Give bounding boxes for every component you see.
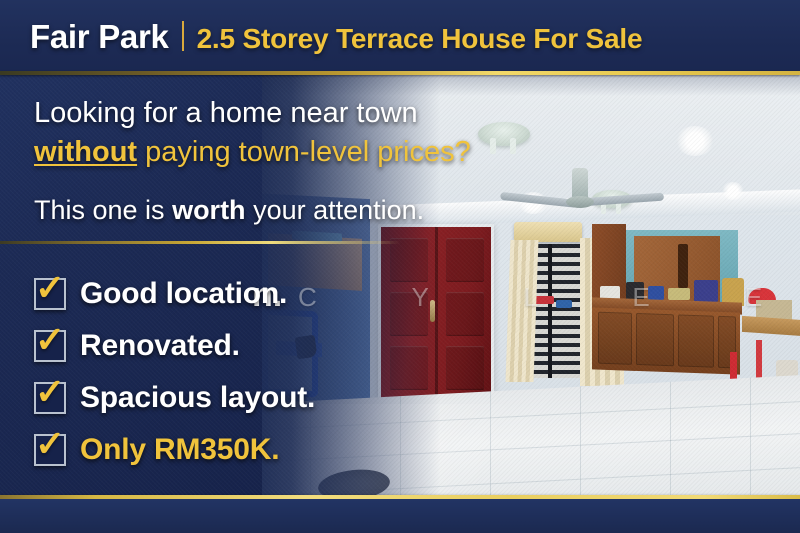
copy-block: Looking for a home near town without pay… <box>34 94 504 228</box>
wooden-tv-cabinet <box>592 307 740 374</box>
checkbox-checked-icon: ✓ <box>34 434 66 466</box>
checklist-item-label: Spacious layout. <box>80 381 315 415</box>
brand-title: Fair Park <box>30 18 169 56</box>
checklist-item-label-price: Only RM350K. <box>80 433 279 467</box>
gold-divider-middle <box>0 241 400 244</box>
checkbox-checked-icon: ✓ <box>34 278 66 310</box>
gold-divider-top <box>0 71 800 75</box>
checklist-item-label: Good location. <box>80 277 287 311</box>
header-bar: Fair Park 2.5 Storey Terrace House For S… <box>0 0 800 74</box>
checklist-item-label: Renovated. <box>80 329 240 363</box>
checkbox-checked-icon: ✓ <box>34 330 66 362</box>
feature-checklist: ✓ Good location. ✓ Renovated. ✓ Spacious… <box>34 268 315 476</box>
watermark-text: C Y L E E <box>298 282 800 313</box>
checkbox-checked-icon: ✓ <box>34 382 66 414</box>
checklist-item: ✓ Renovated. <box>34 320 315 372</box>
copy-line-2: without paying town-level prices? <box>34 133 504 172</box>
recessed-spot-light-icon <box>722 182 744 200</box>
headline-title: 2.5 Storey Terrace House For Sale <box>197 23 643 55</box>
copy-line-3-pre: This one is <box>34 195 172 225</box>
checklist-item: ✓ Good location. <box>34 268 315 320</box>
real-estate-flyer: n. C Y L E E Fair Park 2.5 Storey Terrac… <box>0 0 800 533</box>
copy-emphasis-without: without <box>34 136 137 168</box>
copy-line-3-post: your attention. <box>246 195 425 225</box>
copy-bold-worth: worth <box>172 195 246 225</box>
air-conditioner-unit <box>514 222 582 242</box>
vertical-pipe-icon <box>182 21 184 51</box>
recessed-spot-light-icon <box>676 126 714 156</box>
footer-bar <box>0 499 800 533</box>
copy-line-2-rest: paying town-level prices? <box>137 136 471 168</box>
checklist-item: ✓ Only RM350K. <box>34 424 315 476</box>
ceiling-fan-cap <box>566 196 594 208</box>
checklist-item: ✓ Spacious layout. <box>34 372 315 424</box>
copy-line-1: Looking for a home near town <box>34 94 504 133</box>
copy-line-3: This one is worth your attention. <box>34 192 504 228</box>
